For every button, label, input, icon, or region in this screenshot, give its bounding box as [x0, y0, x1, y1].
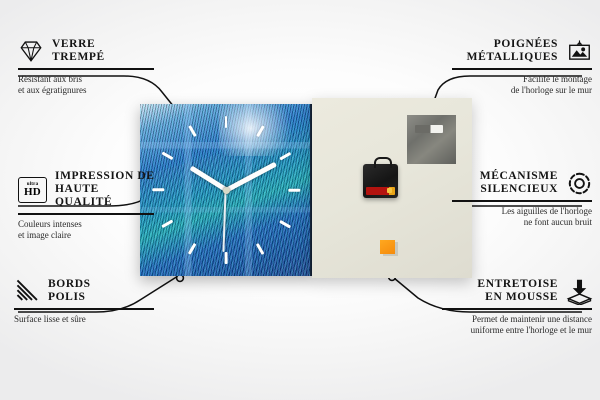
foam-spacer-icon [566, 278, 592, 304]
feature-divider [14, 308, 154, 310]
ultra-hd-icon-large-text: HD [24, 187, 41, 198]
ultra-hd-icon: ultra HD [18, 177, 47, 203]
feature-title-line1: POIGNÉES [494, 38, 558, 50]
feature-desc-line1: Résistant aux bris [18, 74, 82, 84]
clock-front-panel [140, 104, 312, 276]
picture-hanger-icon [566, 38, 592, 64]
battery [366, 187, 395, 195]
foam-spacer [380, 240, 395, 254]
feature-desc-line1: Facilite le montage [523, 74, 592, 84]
feature-title-line2: MÉTALLIQUES [467, 51, 558, 63]
feature-desc-line2: et aux égratignures [18, 85, 86, 95]
feature-title-line1: IMPRESSION DE [55, 170, 155, 182]
polished-edges-icon [14, 278, 40, 304]
feature-desc-line2: de l'horloge sur le mur [511, 85, 592, 95]
diamond-icon [18, 38, 44, 64]
clock-back-panel [312, 98, 472, 278]
feature-desc-line1: Surface lisse et sûre [14, 314, 86, 324]
feature-impression-haute-qualite: ultra HD IMPRESSION DE HAUTE QUALITÉ Cou… [18, 170, 158, 241]
feature-title-line2: TREMPÉ [52, 51, 105, 63]
feature-verre-trempe: VERRE TREMPÉ Résistant aux bris et aux é… [18, 38, 158, 96]
feature-desc-line1: Couleurs intenses [18, 219, 82, 229]
feature-desc-line1: Permet de maintenir une distance [472, 314, 592, 324]
feature-bords-polis: BORDS POLIS Surface lisse et sûre [14, 278, 154, 325]
feature-divider [18, 213, 154, 215]
feature-title-line2: EN MOUSSE [485, 291, 558, 303]
clock-tick [225, 116, 228, 128]
metal-hanger-plate [407, 115, 456, 164]
feature-title-line2: HAUTE QUALITÉ [55, 183, 112, 208]
infographic-canvas: VERRE TREMPÉ Résistant aux bris et aux é… [0, 0, 600, 400]
hanging-loop [374, 157, 392, 168]
hanger-slot [415, 125, 443, 133]
feature-divider [452, 68, 592, 70]
clock-mechanism [363, 164, 398, 198]
clock-tick [288, 189, 300, 192]
feature-desc-line1: Les aiguilles de l'horloge [502, 206, 592, 216]
feature-title-line1: BORDS [48, 278, 91, 290]
gear-icon [566, 170, 592, 196]
feature-title-line2: POLIS [48, 291, 86, 303]
feature-entretoise-en-mousse: ENTRETOISE EN MOUSSE Permet de maintenir… [442, 278, 592, 336]
feature-desc-line2: ne font aucun bruit [524, 217, 592, 227]
feature-title-line1: MÉCANISME [480, 170, 558, 182]
feature-mecanisme-silencieux: MÉCANISME SILENCIEUX Les aiguilles de l'… [452, 170, 592, 228]
feature-desc-line2: uniforme entre l'horloge et le mur [471, 325, 592, 335]
feature-divider [18, 68, 154, 70]
feature-title-line2: SILENCIEUX [480, 183, 558, 195]
feature-desc-line2: et image claire [18, 230, 71, 240]
feature-title-line1: VERRE [52, 38, 95, 50]
clock-center-cap [223, 187, 230, 194]
feature-title-line1: ENTRETOISE [477, 278, 558, 290]
feature-divider [452, 200, 592, 202]
feature-poignees-metalliques: POIGNÉES MÉTALLIQUES Facilite le montage… [452, 38, 592, 96]
feature-divider [442, 308, 592, 310]
clock-tick [225, 252, 228, 264]
